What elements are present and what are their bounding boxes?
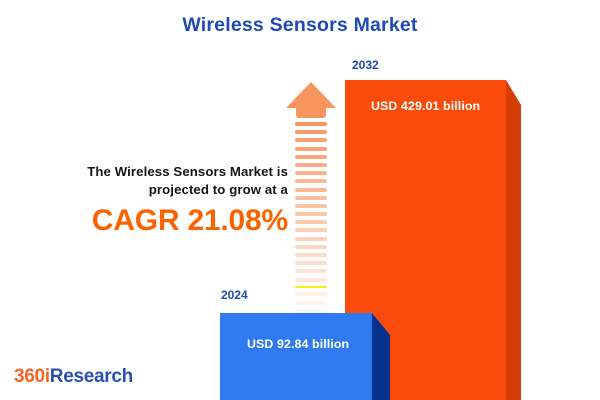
arrow-segment (295, 261, 327, 265)
arrow-segment (295, 269, 327, 273)
cagr-value-text: CAGR 21.08% (40, 205, 288, 237)
bar-base-year[interactable]: USD 92.84 billion (220, 313, 390, 400)
bar-base-side-face (372, 313, 390, 400)
bar-forecast-side-face (506, 80, 521, 400)
arrow-segment (295, 155, 327, 159)
arrow-segment (295, 204, 327, 208)
arrow-head-icon (286, 82, 336, 108)
cagr-annotation: The Wireless Sensors Market is projected… (40, 163, 288, 236)
arrow-neck (296, 108, 326, 118)
cagr-lead-text: The Wireless Sensors Market is projected… (40, 163, 288, 199)
arrow-segment (295, 138, 327, 142)
bar-value-base-year: USD 92.84 billion (247, 337, 349, 351)
arrow-segment (295, 286, 327, 289)
logo-360i-text: 360i (14, 366, 50, 387)
infographic-canvas: Wireless Sensors Market The Wireless Sen… (0, 0, 600, 400)
arrow-gradient-segments (295, 122, 327, 333)
logo-research-text: Research (50, 366, 133, 387)
arrow-segment (295, 301, 327, 305)
arrow-segment (295, 179, 327, 183)
arrow-segment (295, 147, 327, 151)
arrow-segment (295, 220, 327, 224)
upward-growth-arrow (286, 82, 336, 296)
arrow-segment (295, 163, 327, 167)
bar-label-forecast-year: 2032 (352, 58, 379, 72)
brand-logo[interactable]: 360iResearch (14, 366, 133, 388)
page-title: Wireless Sensors Market (0, 14, 600, 37)
arrow-segment (295, 130, 327, 134)
arrow-segment (295, 237, 327, 241)
arrow-segment (295, 171, 327, 175)
arrow-segment (295, 188, 327, 192)
bar-label-base-year: 2024 (221, 288, 248, 302)
arrow-segment (295, 278, 327, 282)
bar-value-forecast-year: USD 429.01 billion (371, 99, 480, 113)
arrow-segment (295, 253, 327, 257)
arrow-segment (295, 245, 327, 249)
arrow-segment (295, 292, 327, 296)
arrow-segment (295, 196, 327, 200)
arrow-segment (295, 212, 327, 216)
bar-base-front-face (220, 313, 372, 400)
arrow-segment (295, 122, 327, 126)
arrow-segment (295, 228, 327, 232)
